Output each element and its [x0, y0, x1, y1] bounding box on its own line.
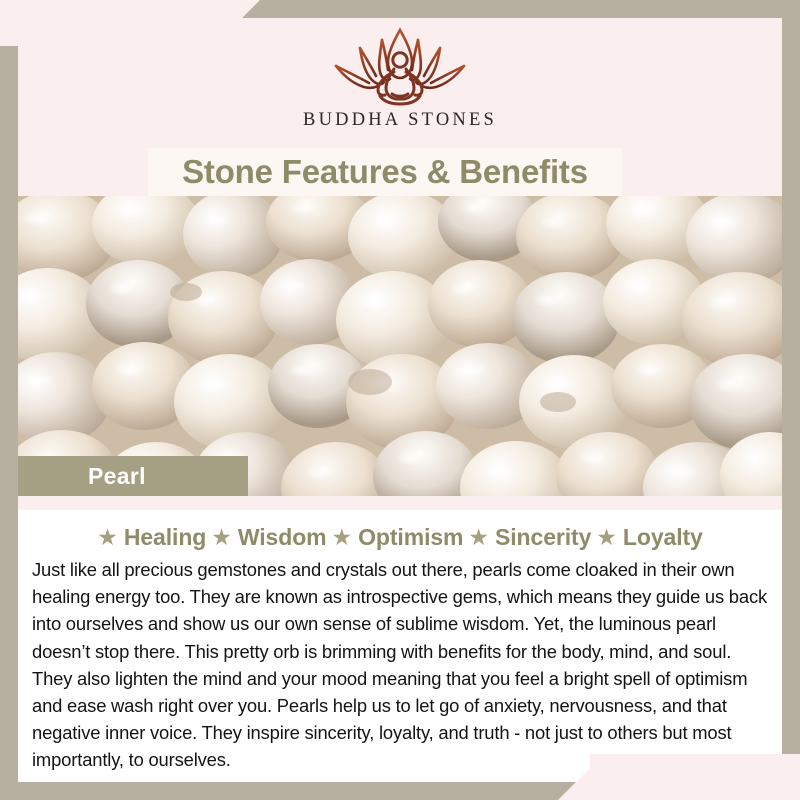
- star-icon: ★: [211, 526, 232, 549]
- brand-name: BUDDHA STONES: [303, 110, 497, 131]
- keyword-item-optimism: ★ Optimism: [332, 524, 464, 551]
- pearl-photo: Pearl: [18, 196, 782, 496]
- keyword-label: Loyalty: [623, 524, 703, 551]
- frame-notch-top-left: [0, 0, 232, 46]
- title-strip: Stone Features & Benefits: [18, 148, 782, 196]
- frame-notch-bottom-right-diagonal: [558, 754, 604, 800]
- star-icon: ★: [97, 526, 118, 549]
- keyword-item-healing: ★ Healing: [97, 524, 206, 551]
- keyword-label: Healing: [124, 524, 206, 551]
- description-paragraph: Just like all precious gemstones and cry…: [32, 556, 768, 774]
- title-box: Stone Features & Benefits: [148, 148, 622, 196]
- frame-notch-top-left-diagonal: [214, 0, 260, 46]
- keyword-label: Sincerity: [495, 524, 591, 551]
- keyword-item-wisdom: ★ Wisdom: [211, 524, 326, 551]
- content-card: BUDDHA STONES Stone Features & Benefits: [18, 18, 782, 782]
- stone-name: Pearl: [88, 463, 146, 490]
- lotus-meditation-icon: [324, 24, 476, 112]
- page-title: Stone Features & Benefits: [182, 153, 588, 191]
- star-icon: ★: [596, 526, 617, 549]
- keyword-label: Optimism: [358, 524, 463, 551]
- poster-root: BUDDHA STONES Stone Features & Benefits: [0, 0, 800, 800]
- star-icon: ★: [332, 526, 353, 549]
- photo-panel-separator: [18, 496, 782, 510]
- keyword-item-sincerity: ★ Sincerity: [468, 524, 591, 551]
- keyword-list: ★ Healing ★ Wisdom ★ Optimism ★ Sincerit…: [32, 520, 768, 554]
- benefits-panel: ★ Healing ★ Wisdom ★ Optimism ★ Sincerit…: [18, 510, 782, 782]
- frame-notch-bottom-right: [590, 754, 800, 800]
- keyword-item-loyalty: ★ Loyalty: [596, 524, 702, 551]
- star-icon: ★: [468, 526, 489, 549]
- keyword-label: Wisdom: [238, 524, 327, 551]
- stone-label-bar: Pearl: [18, 456, 248, 496]
